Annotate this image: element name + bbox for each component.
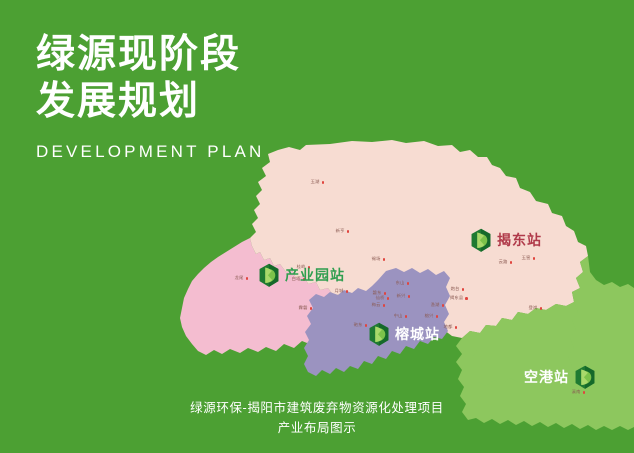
town-dot-icon [533, 257, 536, 260]
town-marker: 霖磐 [300, 306, 312, 311]
station-marker-konggang[interactable]: 空港站 [524, 365, 596, 390]
town-label: 东山 [396, 281, 405, 287]
town-dot-icon [246, 277, 249, 280]
title-block: 绿源现阶段 发展规划 DEVELOPMENT PLAN [36, 32, 265, 162]
station-marker-chanyeyuan[interactable]: 产业园站 [258, 263, 345, 288]
town-label: 榕兴 [425, 314, 434, 320]
town-label: 中山 [394, 314, 403, 320]
town-marker: 溪南 [573, 390, 585, 395]
town-dot-icon [540, 307, 543, 310]
caption-block: 绿源环保-揭阳市建筑废弃物资源化处理项目 产业布局图示 [0, 398, 634, 439]
green-leaf-logo-icon [574, 365, 596, 390]
town-dot-icon [347, 230, 350, 233]
town-marker: 东山 [397, 281, 409, 286]
town-marker: 云路 [500, 260, 512, 265]
town-dot-icon [465, 297, 468, 300]
title-line-1: 绿源现阶段 [36, 32, 265, 79]
town-dot-icon [462, 288, 465, 291]
town-dot-icon [322, 181, 325, 184]
town-dot-icon [436, 315, 439, 318]
town-dot-icon [365, 324, 368, 327]
green-leaf-logo-icon [574, 365, 596, 390]
town-dot-icon [384, 292, 387, 295]
caption-line-1: 绿源环保-揭阳市建筑废弃物资源化处理项目 [0, 398, 634, 419]
town-marker: 渔湖 [432, 303, 444, 308]
town-marker: 玉湖 [312, 180, 324, 185]
town-dot-icon [387, 297, 390, 300]
town-marker: 砲东 [355, 323, 367, 328]
town-marker: 揭东县 [452, 296, 468, 301]
green-leaf-logo-icon [258, 263, 280, 288]
town-dot-icon [455, 326, 458, 329]
town-dot-icon [383, 258, 386, 261]
station-label-rongcheng: 榕城站 [395, 324, 440, 344]
station-label-chanyeyuan: 产业园站 [285, 265, 345, 285]
town-marker: 中山 [395, 314, 407, 319]
town-dot-icon [510, 261, 513, 264]
town-marker: 仙桥 [377, 296, 389, 301]
town-dot-icon [346, 290, 349, 293]
town-label: 月城 [335, 289, 344, 295]
town-label: 渔湖 [431, 303, 440, 309]
subtitle-development-plan: DEVELOPMENT PLAN [36, 142, 265, 162]
town-label: 云路 [499, 260, 508, 266]
green-leaf-logo-icon [470, 228, 492, 253]
town-label: 炮台 [451, 287, 460, 293]
town-marker: 新兴 [398, 294, 410, 299]
town-dot-icon [407, 282, 410, 285]
town-label: 登岗 [529, 306, 538, 312]
town-label: 锡场 [372, 257, 381, 263]
town-marker: 玉窖 [523, 256, 535, 261]
town-marker: 龙尾 [236, 276, 248, 281]
town-marker: 锡场 [373, 257, 385, 262]
title-line-2: 发展规划 [36, 79, 265, 126]
green-leaf-logo-icon [258, 263, 280, 288]
town-label: 磐东 [373, 291, 382, 297]
green-leaf-logo-icon [368, 322, 390, 347]
town-dot-icon [310, 307, 313, 310]
town-label: 新兴 [397, 294, 406, 300]
town-label: 新亨 [336, 229, 345, 235]
town-dot-icon [408, 295, 411, 298]
station-label-konggang: 空港站 [524, 367, 569, 387]
town-dot-icon [583, 391, 586, 394]
town-dot-icon [383, 304, 386, 307]
town-label: 霖磐 [299, 306, 308, 312]
town-marker: 新亨 [337, 229, 349, 234]
green-leaf-logo-icon [470, 228, 492, 253]
station-label-jiedong: 揭东站 [497, 230, 542, 250]
town-label: 溪南 [572, 390, 581, 396]
town-label: 揭东县 [450, 296, 463, 302]
town-marker: 月城 [336, 289, 348, 294]
town-label: 梅云 [372, 303, 381, 309]
town-marker: 榕兴 [426, 314, 438, 319]
station-marker-rongcheng[interactable]: 榕城站 [368, 322, 440, 347]
town-dot-icon [442, 304, 445, 307]
town-dot-icon [405, 315, 408, 318]
caption-line-2: 产业布局图示 [0, 418, 634, 439]
town-marker: 炮台 [452, 287, 464, 292]
town-label: 玉湖 [311, 180, 320, 186]
town-marker: 磐东 [374, 291, 386, 296]
green-leaf-logo-icon [368, 322, 390, 347]
town-marker: 地都 [445, 325, 457, 330]
town-label: 龙尾 [235, 276, 244, 282]
town-label: 地都 [444, 325, 453, 331]
development-plan-poster: 绿源现阶段 发展规划 DEVELOPMENT PLAN 玉湖新亨锡场云路玉窖桂岭… [0, 0, 634, 453]
town-label: 砲东 [354, 323, 363, 329]
town-marker: 梅云 [373, 303, 385, 308]
station-marker-jiedong[interactable]: 揭东站 [470, 228, 542, 253]
town-marker: 登岗 [530, 306, 542, 311]
town-label: 玉窖 [522, 256, 531, 262]
